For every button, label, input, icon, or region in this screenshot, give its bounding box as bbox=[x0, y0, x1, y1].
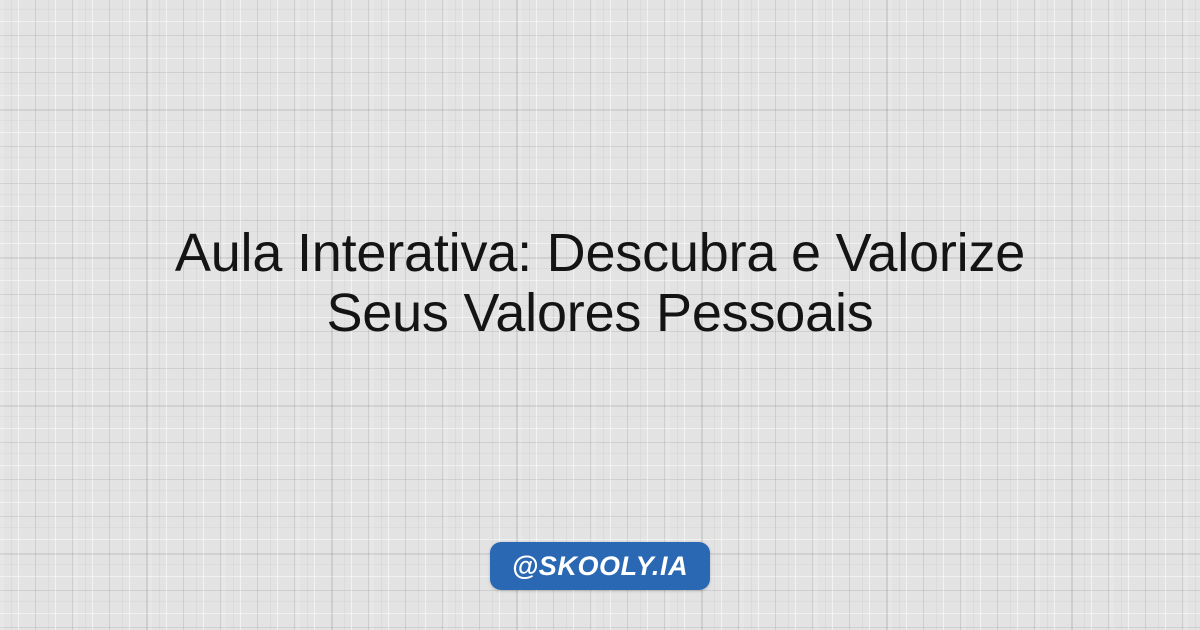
page-title-line-2: Seus Valores Pessoais bbox=[50, 283, 1150, 343]
page-title: Aula Interativa: Descubra e Valorize Seu… bbox=[50, 223, 1150, 407]
handle-badge[interactable]: @SKOOLY.IA bbox=[490, 542, 710, 590]
page-title-line-1: Aula Interativa: Descubra e Valorize bbox=[50, 223, 1150, 283]
handle-badge-container: @SKOOLY.IA bbox=[0, 542, 1200, 590]
handle-badge-label: @SKOOLY.IA bbox=[512, 553, 688, 580]
social-card: Aula Interativa: Descubra e Valorize Seu… bbox=[0, 0, 1200, 630]
